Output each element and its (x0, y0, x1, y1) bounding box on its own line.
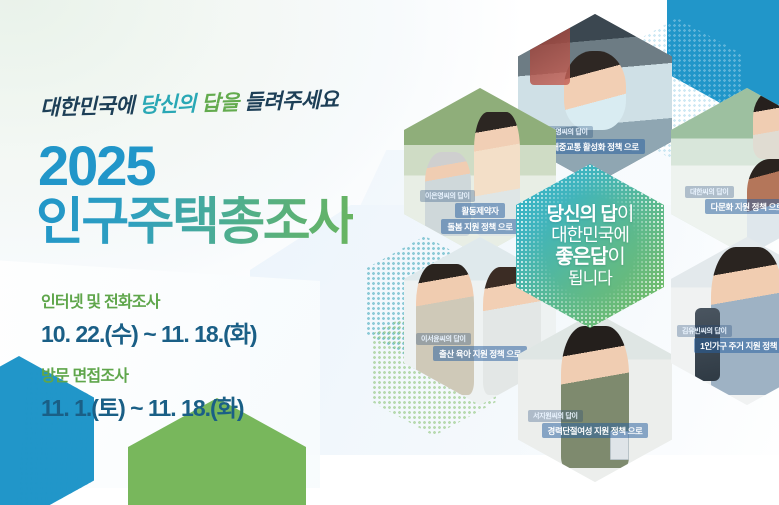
photo-scene-single (671, 237, 779, 405)
tagline-part-2: 당신의 (139, 93, 196, 118)
census-poster: 김보영씨의 답이 대중교통 활성화 정책 으로 이은영씨의 답이 활동제약자 돌… (0, 0, 779, 505)
photo-card-single-household: 김유빈씨의 답이 1인가구 주거 지원 정책 으로 (671, 237, 779, 405)
center-line-1: 당신의 답이 (547, 204, 634, 226)
poster-tagline: 대한민국에 당신의 답을 들려주세요 (40, 84, 339, 122)
tagline-part-3: 답을 (201, 91, 239, 115)
schedule-visit-interview: 방문 면접조사 11. 1.(토) ~ 11. 18.(화) (41, 362, 244, 423)
poster-title-main: 인구주택총조사 (36, 196, 353, 248)
tagline-part-1: 대한민국에 (40, 94, 135, 120)
poster-title-year: 2025 (38, 138, 155, 194)
center-line-4: 됩니다 (547, 269, 634, 288)
center-line-3: 좋은답이 (547, 246, 634, 269)
tagline-part-4: 들려주세요 (244, 89, 339, 115)
schedule-label: 방문 면접조사 (41, 362, 244, 386)
center-line-2: 대한민국에 (547, 225, 634, 246)
schedule-date: 11. 1.(토) ~ 11. 18.(화) (41, 389, 244, 423)
schedule-internet-phone: 인터넷 및 전화조사 10. 22.(수) ~ 11. 18.(화) (41, 288, 257, 349)
schedule-date: 10. 22.(수) ~ 11. 18.(화) (41, 315, 257, 349)
schedule-label: 인터넷 및 전화조사 (41, 288, 257, 312)
center-message-text: 당신의 답이 대한민국에 좋은답이 됩니다 (547, 204, 634, 288)
